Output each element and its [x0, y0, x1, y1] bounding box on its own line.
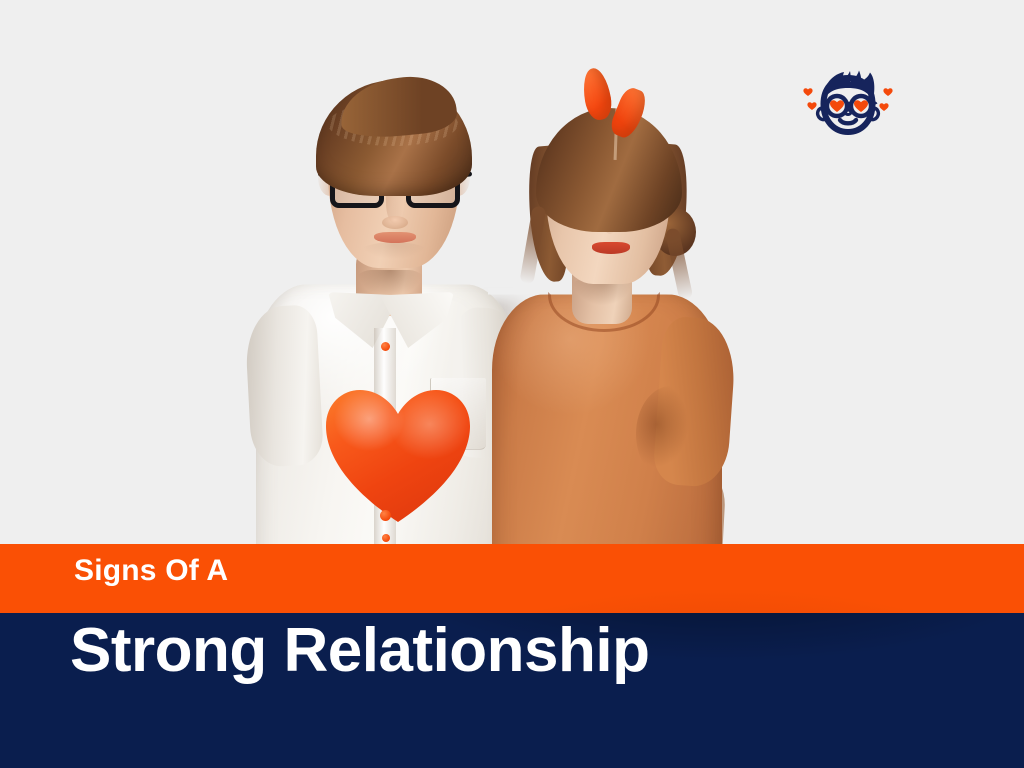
man-shirt-button [382, 534, 390, 542]
face-smile [840, 120, 856, 123]
page-title: Strong Relationship [70, 618, 650, 683]
figure-woman [486, 86, 746, 556]
man-shirt-button [380, 510, 391, 521]
man-nose-tip [382, 216, 408, 229]
man-shirt-button [381, 342, 390, 351]
man-mouth [374, 232, 416, 243]
man-chin-shadow [356, 242, 432, 268]
woman-mouth [592, 242, 630, 254]
band-swoosh-shadow [344, 544, 1024, 613]
kicker-text: Signs Of A [74, 556, 228, 586]
woman-hair [536, 108, 682, 232]
poster-canvas: Signs Of A Strong Relationship [0, 0, 1024, 768]
face-nose [845, 110, 851, 115]
heart-eyes-face-logo[interactable] [800, 58, 896, 154]
man-left-sleeve [244, 304, 324, 468]
woman-sleeve-fold-shadow [636, 386, 706, 482]
